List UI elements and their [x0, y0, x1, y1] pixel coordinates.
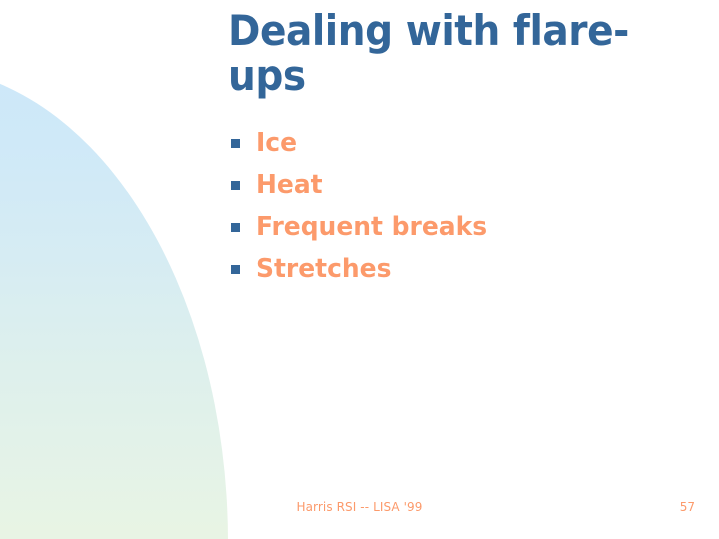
square-bullet-icon: [231, 181, 240, 190]
slide-title: Dealing with flare-ups: [228, 8, 673, 98]
decorative-gradient-ellipse: [0, 67, 228, 539]
bullet-item-label: Heat: [256, 164, 323, 206]
square-bullet-icon: [231, 265, 240, 274]
bullet-list: Ice Heat Frequent breaks Stretches: [228, 122, 698, 290]
list-item: Heat: [228, 164, 698, 206]
slide-footer: Harris RSI -- LISA '99 57: [0, 500, 719, 520]
list-item: Ice: [228, 122, 698, 164]
list-item: Stretches: [228, 248, 698, 290]
bullet-item-label: Stretches: [256, 248, 391, 290]
slide-page-number: 57: [680, 500, 695, 514]
list-item: Frequent breaks: [228, 206, 698, 248]
bullet-item-label: Frequent breaks: [256, 206, 487, 248]
footer-attribution: Harris RSI -- LISA '99: [0, 500, 719, 514]
square-bullet-icon: [231, 223, 240, 232]
bullet-item-label: Ice: [256, 122, 297, 164]
presentation-slide: Dealing with flare-ups Ice Heat Frequent…: [0, 0, 719, 539]
square-bullet-icon: [231, 139, 240, 148]
